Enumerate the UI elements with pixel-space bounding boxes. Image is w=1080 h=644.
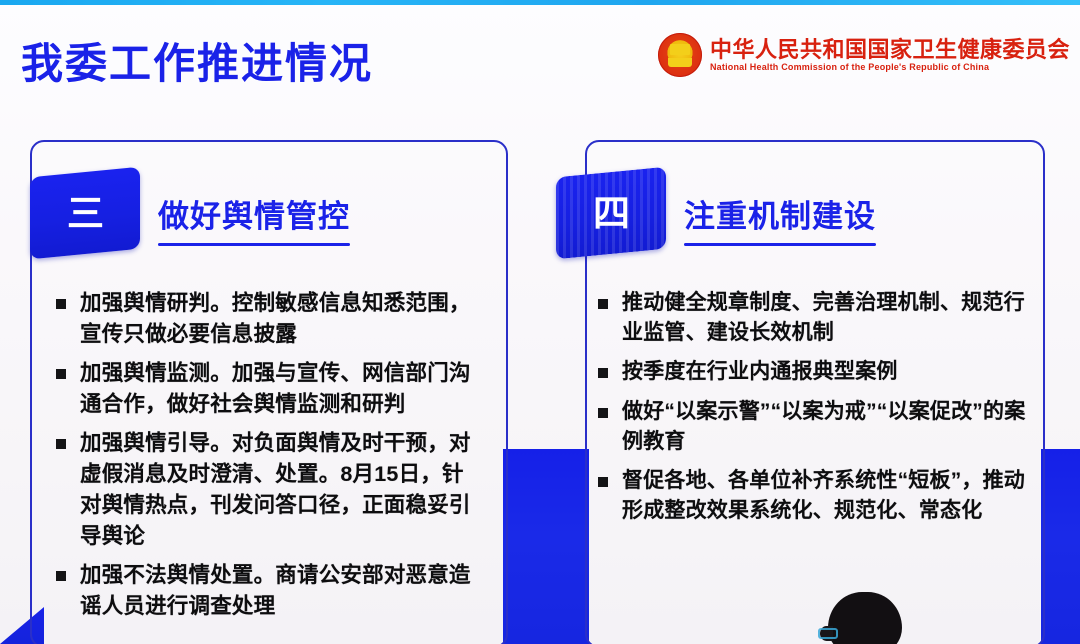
card-four-number: 四 <box>593 195 630 232</box>
card-four-title-underline <box>684 243 876 246</box>
card-three-bullet-list: 加强舆情研判。控制敏感信息知悉范围，宣传只做必要信息披露 加强舆情监测。加强与宣… <box>54 288 478 630</box>
card-three-title: 做好舆情管控 <box>158 200 350 234</box>
slide-header: 我委工作推进情况 中华人民共和国国家卫生健康委员会 National Healt… <box>0 18 1080 104</box>
page-title: 我委工作推进情况 <box>21 30 373 91</box>
logo-text-block: 中华人民共和国国家卫生健康委员会 National Health Commiss… <box>710 38 1070 72</box>
list-item: 做好“以案示警”“以案为戒”“以案促改”的案例教育 <box>596 397 1034 457</box>
card-three-number-badge: 三 <box>30 167 140 260</box>
card-four-title-wrap: 注重机制建设 <box>684 200 876 246</box>
presenter-head-silhouette <box>818 592 914 644</box>
list-item: 推动健全规章制度、完善治理机制、规范行业监管、建设长效机制 <box>596 288 1034 348</box>
logo-chinese-name: 中华人民共和国国家卫生健康委员会 <box>710 38 1070 61</box>
card-four-title: 注重机制建设 <box>684 200 876 234</box>
card-four-header: 四 注重机制建设 <box>556 172 876 254</box>
card-three-header: 三 做好舆情管控 <box>30 172 350 254</box>
card-four-bullet-list: 推动健全规章制度、完善治理机制、规范行业监管、建设长效机制 按季度在行业内通报典… <box>596 288 1034 536</box>
organization-logo: 中华人民共和国国家卫生健康委员会 National Health Commiss… <box>658 33 1070 77</box>
card-three-title-wrap: 做好舆情管控 <box>158 200 350 246</box>
list-item: 加强不法舆情处置。商请公安部对恶意造谣人员进行调查处理 <box>54 560 478 622</box>
presenter-head <box>828 592 902 644</box>
list-item: 加强舆情引导。对负面舆情及时干预，对虚假消息及时澄清、处置。8月15日，针对舆情… <box>54 428 478 552</box>
presenter-glasses-icon <box>818 628 838 639</box>
logo-english-name: National Health Commission of the People… <box>710 62 1070 72</box>
blue-vertical-band-right <box>1041 449 1080 644</box>
card-four-number-badge: 四 <box>556 167 666 260</box>
card-three-number: 三 <box>67 195 104 232</box>
list-item: 加强舆情研判。控制敏感信息知悉范围，宣传只做必要信息披露 <box>54 288 478 350</box>
list-item: 加强舆情监测。加强与宣传、网信部门沟通合作，做好社会舆情监测和研判 <box>54 358 478 420</box>
blue-vertical-band-center <box>503 449 589 644</box>
china-national-emblem-icon <box>658 33 702 77</box>
card-three-title-underline <box>158 243 350 246</box>
top-edge-accent-line <box>0 0 1080 5</box>
list-item: 督促各地、各单位补齐系统性“短板”，推动形成整改效果系统化、规范化、常态化 <box>596 466 1034 526</box>
list-item: 按季度在行业内通报典型案例 <box>596 357 1034 387</box>
presentation-slide: 我委工作推进情况 中华人民共和国国家卫生健康委员会 National Healt… <box>0 0 1080 644</box>
